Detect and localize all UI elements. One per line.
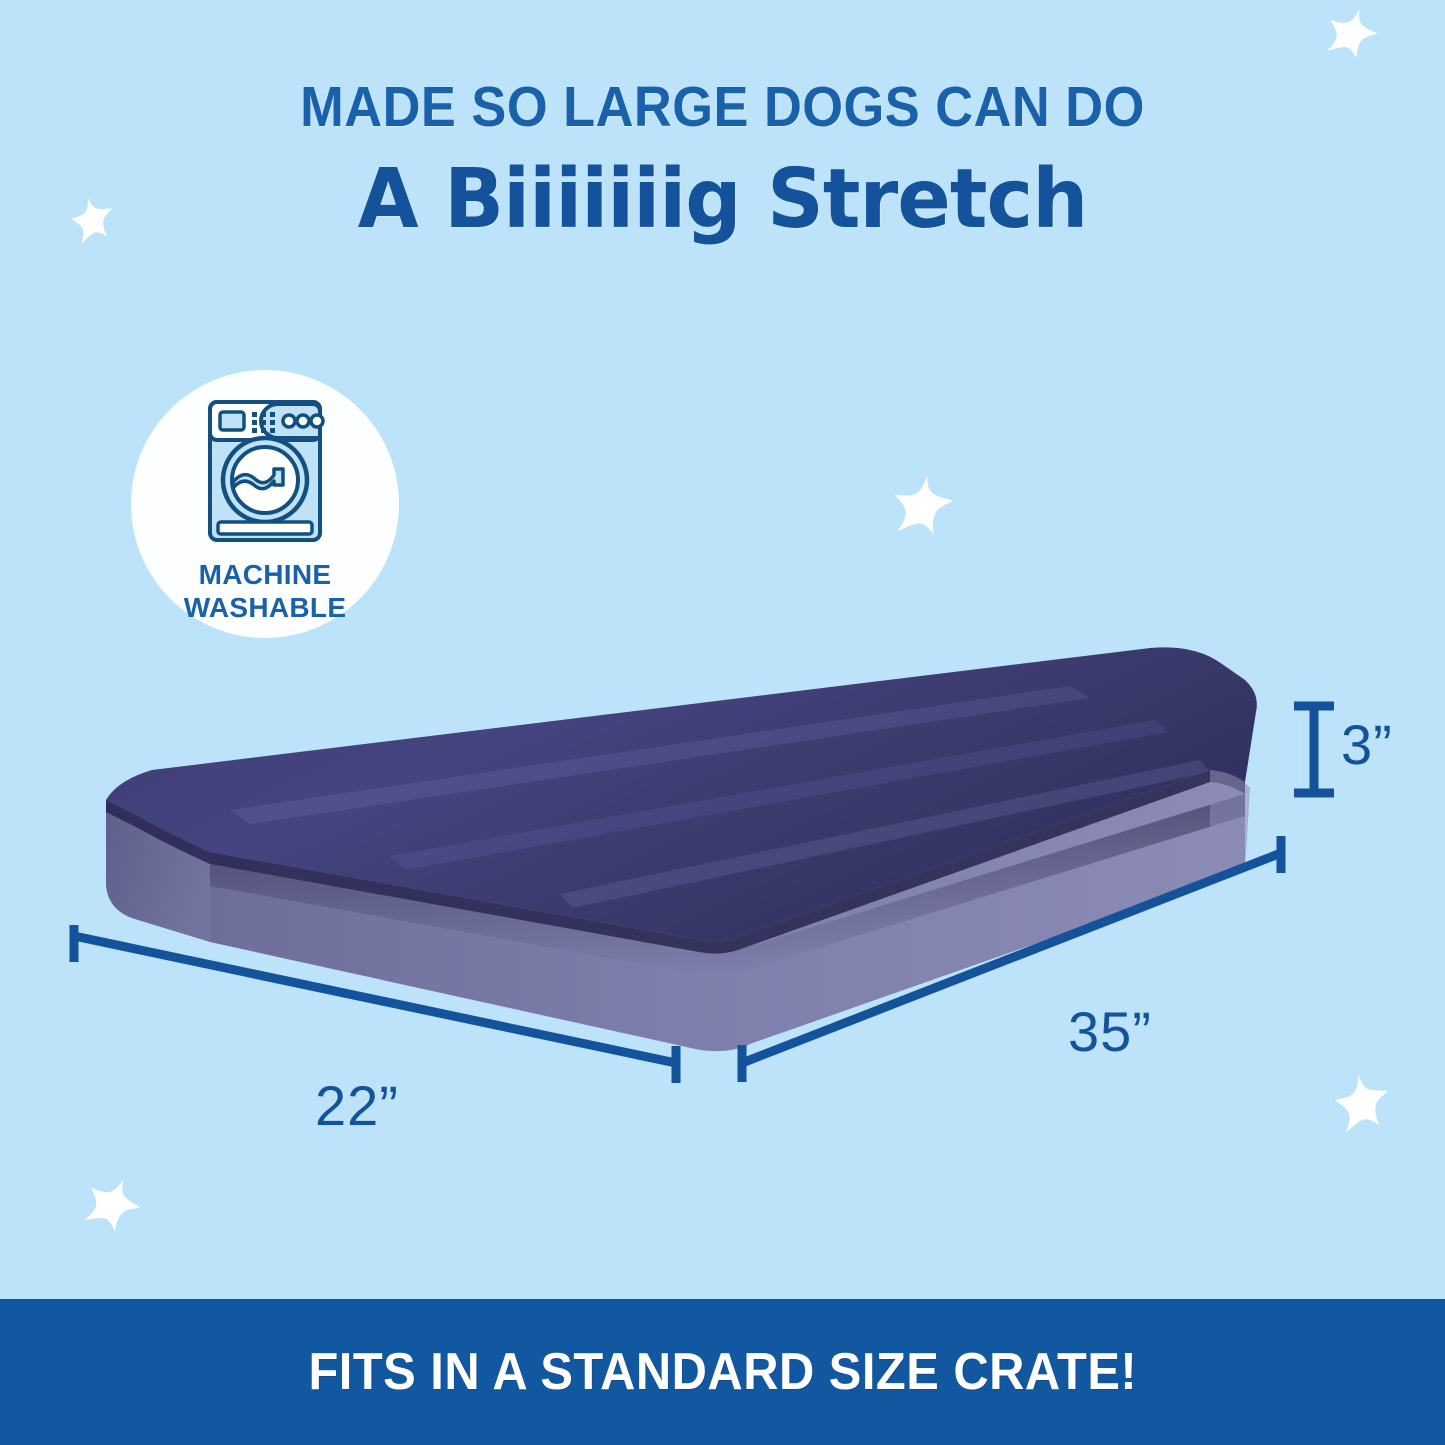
banner-text: FITS IN A STANDARD SIZE CRATE! (308, 1342, 1137, 1402)
dimension-label-length: 35” (1068, 999, 1152, 1064)
dimension-line-22 (74, 936, 676, 1063)
bottom-banner: FITS IN A STANDARD SIZE CRATE! (0, 1299, 1445, 1445)
infographic-canvas: MADE SO LARGE DOGS CAN DO A Biiiiiiig St… (0, 0, 1445, 1445)
dimension-line-35 (742, 853, 1281, 1063)
dimension-label-height: 3” (1341, 712, 1393, 777)
dimension-label-width: 22” (315, 1073, 399, 1138)
dimension-lines (0, 0, 1445, 1445)
